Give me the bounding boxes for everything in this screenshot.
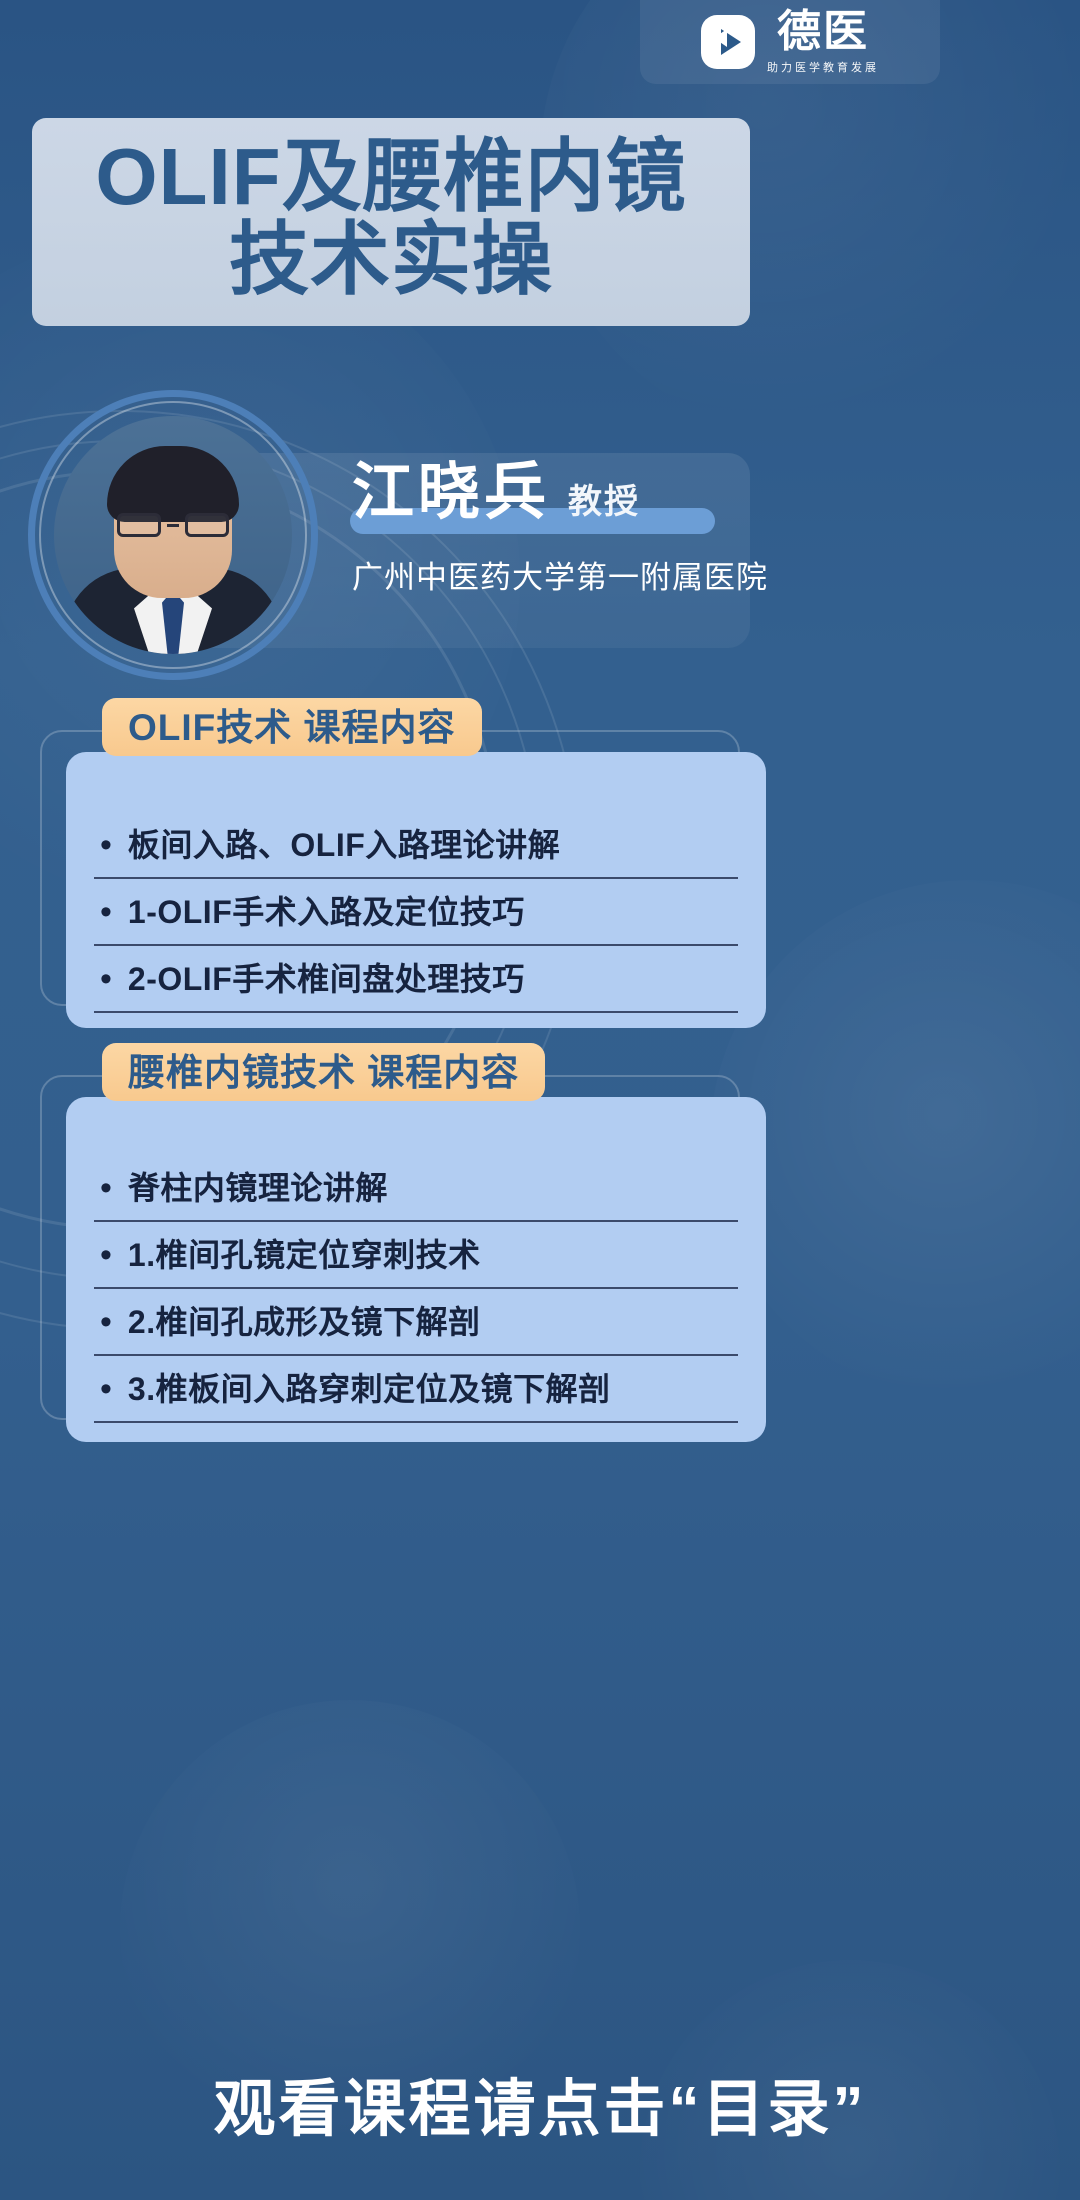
brand-tagline: 助力医学教育发展 xyxy=(767,59,879,75)
brand-text: 德医 助力医学教育发展 xyxy=(767,10,879,75)
section-badge-label: OLIF技术 课程内容 xyxy=(128,709,456,746)
bullet-icon: • xyxy=(100,828,112,862)
footer-cta: 观看课程请点击“目录” xyxy=(0,2058,1080,2148)
list-item-label: 1-OLIF手术入路及定位技巧 xyxy=(128,896,525,928)
list-item-label: 2-OLIF手术椎间盘处理技巧 xyxy=(128,963,525,995)
list-item: • 3.椎板间入路穿刺定位及镜下解剖 xyxy=(94,1356,738,1423)
speaker-name-row: 江晓兵 教授 xyxy=(352,462,640,524)
section-panel: • 脊柱内镜理论讲解 • 1.椎间孔镜定位穿刺技术 • 2.椎间孔成形及镜下解剖… xyxy=(66,1097,766,1442)
brand-logo: 德医 助力医学教育发展 xyxy=(640,0,940,84)
list-item: • 脊柱内镜理论讲解 xyxy=(94,1155,738,1222)
list-item: • 板间入路、OLIF入路理论讲解 xyxy=(94,812,738,879)
section-badge-label: 腰椎内镜技术 课程内容 xyxy=(128,1054,519,1091)
title-line-1: OLIF及腰椎内镜 xyxy=(95,136,686,218)
list-item-label: 板间入路、OLIF入路理论讲解 xyxy=(128,829,560,861)
speaker-name: 江晓兵 xyxy=(352,462,550,524)
bullet-icon: • xyxy=(100,895,112,929)
play-logo-icon xyxy=(701,15,755,69)
section-badge-olif: OLIF技术 课程内容 xyxy=(102,698,482,756)
speaker-organization: 广州中医药大学第一附属医院 xyxy=(352,552,768,597)
list-item: • 2.椎间孔成形及镜下解剖 xyxy=(94,1289,738,1356)
list-item: • 2-OLIF手术椎间盘处理技巧 xyxy=(94,946,738,1013)
brand-name: 德医 xyxy=(777,10,869,54)
bullet-icon: • xyxy=(100,1171,112,1205)
list-item: • 1.椎间孔镜定位穿刺技术 xyxy=(94,1222,738,1289)
list-item-label: 3.椎板间入路穿刺定位及镜下解剖 xyxy=(128,1373,611,1405)
list-item-label: 1.椎间孔镜定位穿刺技术 xyxy=(128,1239,481,1271)
list-item: • 1-OLIF手术入路及定位技巧 xyxy=(94,879,738,946)
list-item-label: 脊柱内镜理论讲解 xyxy=(128,1172,388,1204)
bullet-icon: • xyxy=(100,1238,112,1272)
avatar xyxy=(28,390,318,680)
glasses-icon xyxy=(117,512,229,538)
speaker-title: 教授 xyxy=(568,485,640,519)
list-item-label: 2.椎间孔成形及镜下解剖 xyxy=(128,1306,481,1338)
section-panel: • 板间入路、OLIF入路理论讲解 • 1-OLIF手术入路及定位技巧 • 2-… xyxy=(66,752,766,1028)
poster-root: 德医 助力医学教育发展 OLIF及腰椎内镜 技术实操 江晓兵 教授 广州中医药大… xyxy=(0,0,1080,2200)
bullet-icon: • xyxy=(100,1305,112,1339)
page-title: OLIF及腰椎内镜 技术实操 xyxy=(32,118,750,326)
section-badge-endoscopy: 腰椎内镜技术 课程内容 xyxy=(102,1043,545,1101)
bullet-icon: • xyxy=(100,962,112,996)
bullet-icon: • xyxy=(100,1372,112,1406)
speaker-portrait xyxy=(54,416,292,654)
title-line-2: 技术实操 xyxy=(229,218,553,302)
